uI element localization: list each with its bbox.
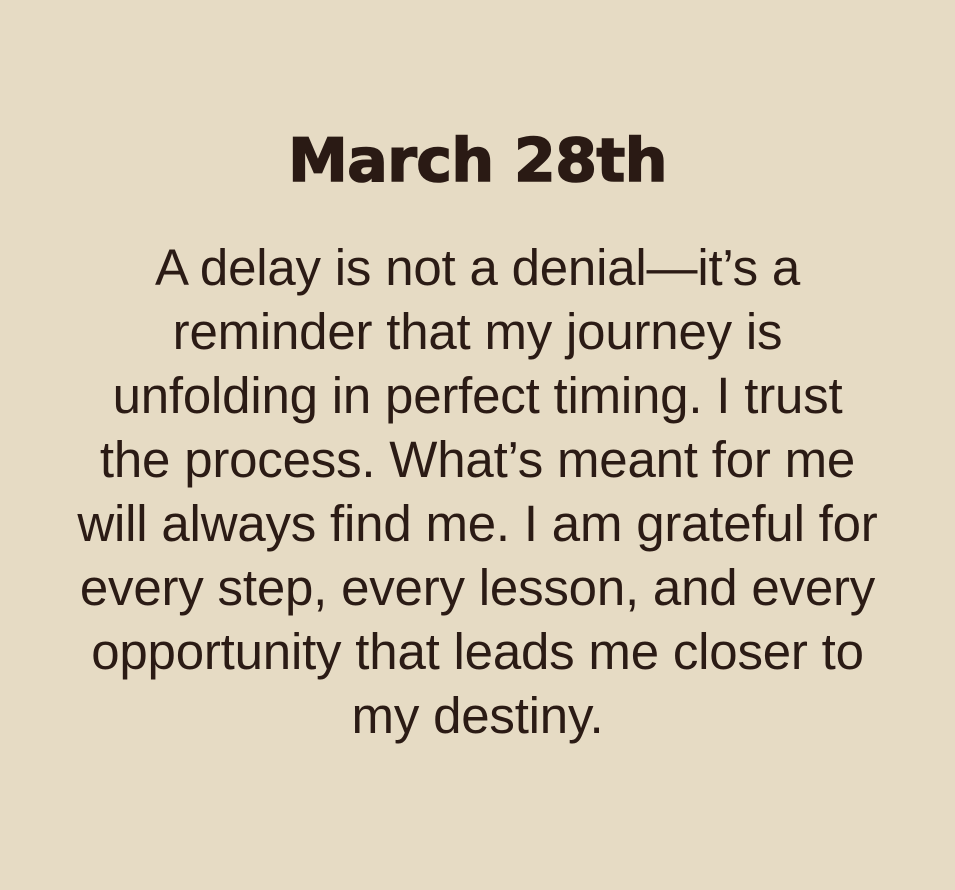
affirmation-quote: A delay is not a denial—it’s a reminder … [48,236,908,748]
quote-line: reminder that my journey is [48,300,908,364]
quote-line: my destiny. [48,684,908,748]
quote-line: the process. What’s meant for me [48,428,908,492]
quote-line: every step, every lesson, and every [48,556,908,620]
quote-line: will always find me. I am grateful for [48,492,908,556]
affirmation-card: March 28th A delay is not a denial—it’s … [0,0,955,890]
date-title: March 28th [0,126,955,196]
quote-line: unfolding in perfect timing. I trust [48,364,908,428]
quote-line: A delay is not a denial—it’s a [48,236,908,300]
quote-line: opportunity that leads me closer to [48,620,908,684]
